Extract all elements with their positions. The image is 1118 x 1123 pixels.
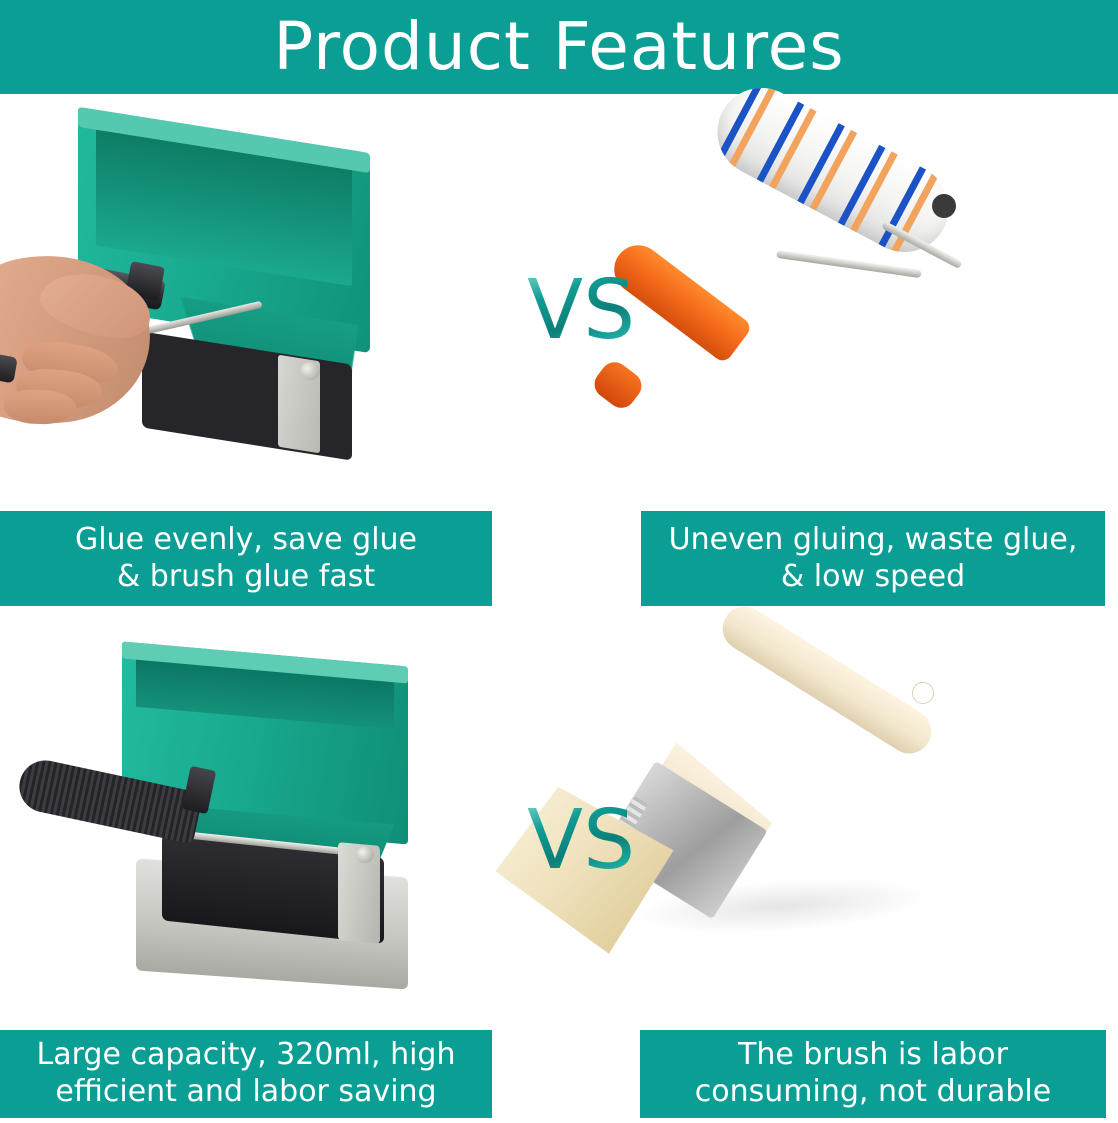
photo-stage-bottom-left (0, 628, 556, 1028)
product-image-paint-brush (560, 628, 1118, 1028)
brush-hang-hole-icon (912, 682, 934, 704)
caption-good-2: Large capacity, 320ml, high efficient an… (0, 1030, 492, 1118)
roller-wire-frame-icon (776, 250, 922, 278)
product-image-glue-applicator-in-hand (0, 108, 556, 508)
header-banner: Product Features (0, 0, 1118, 94)
roller-nap-icon (702, 72, 964, 267)
vs-separator-1: VS (527, 270, 635, 352)
photo-stage-top-left (0, 108, 556, 508)
roller-handle-tip-icon (589, 357, 647, 414)
caption-bad-1: Uneven gluing, waste glue, & low speed (641, 511, 1105, 606)
bolt-icon (356, 846, 374, 863)
caption-good-1: Glue evenly, save glue & brush glue fast (0, 511, 492, 606)
photo-stage-top-right (560, 108, 1118, 508)
product-features-infographic: Product Features (0, 0, 1118, 1123)
brush-handle-icon (714, 598, 939, 761)
product-image-paint-roller (560, 108, 1118, 508)
caption-text: Glue evenly, save glue & brush glue fast (75, 522, 417, 595)
vs-separator-2: VS (527, 800, 635, 882)
page-title: Product Features (273, 14, 844, 80)
product-image-glue-applicator-on-base (0, 628, 556, 1028)
bolt-icon (300, 362, 320, 380)
photo-stage-bottom-right (560, 628, 1118, 1028)
caption-text: Large capacity, 320ml, high efficient an… (37, 1037, 456, 1110)
caption-text: The brush is labor consuming, not durabl… (695, 1037, 1051, 1110)
caption-text: Uneven gluing, waste glue, & low speed (669, 522, 1078, 595)
caption-bad-2: The brush is labor consuming, not durabl… (640, 1030, 1106, 1118)
